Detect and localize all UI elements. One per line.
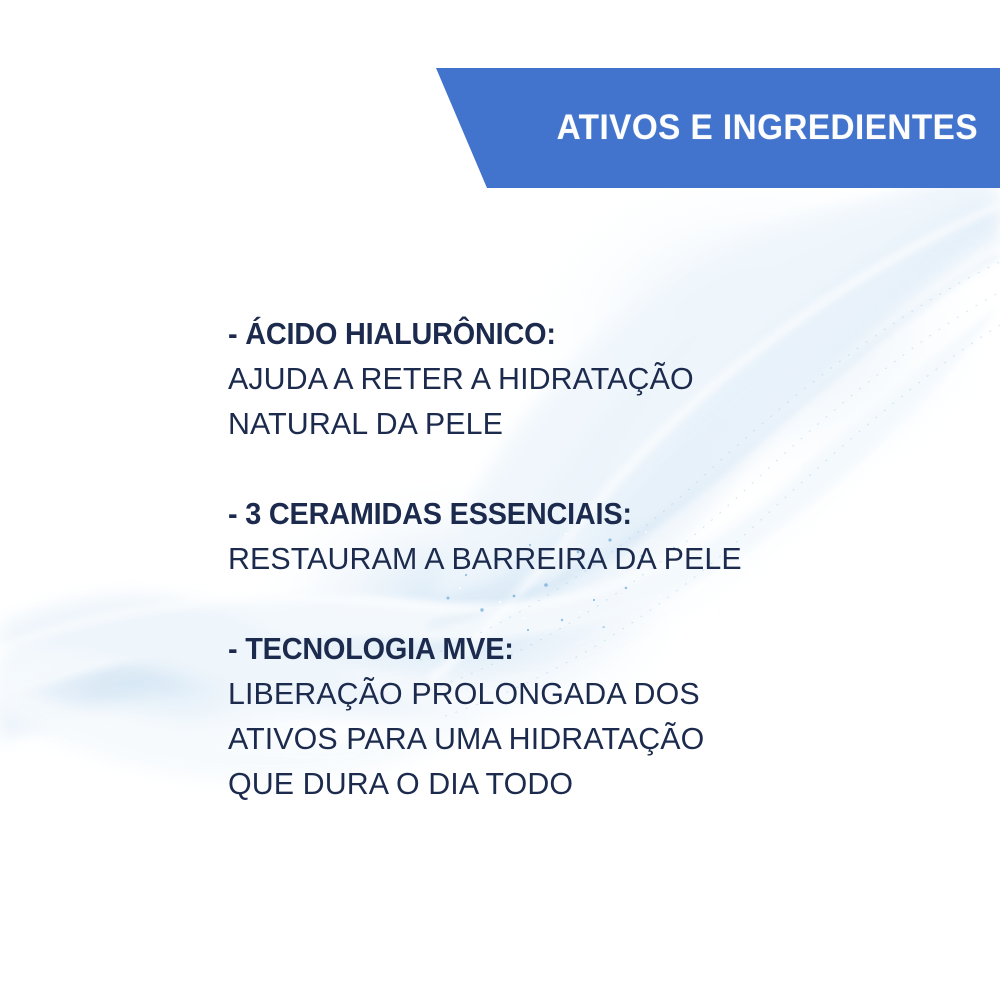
ingredient-heading: - TECNOLOGIA MVE: xyxy=(228,627,823,671)
ingredient-item-3-ceramidas-essenciais: - 3 CERAMIDAS ESSENCIAIS: RESTAURAM A BA… xyxy=(228,492,868,581)
ingredient-description-line: NATURAL DA PELE xyxy=(228,401,855,446)
ingredient-item-acido-hialuronico: - ÁCIDO HIALURÔNICO: AJUDA A RETER A HID… xyxy=(228,312,868,446)
ingredients-list: - ÁCIDO HIALURÔNICO: AJUDA A RETER A HID… xyxy=(228,312,868,806)
ingredient-description-line: AJUDA A RETER A HIDRATAÇÃO xyxy=(228,356,855,401)
ingredient-heading: - ÁCIDO HIALURÔNICO: xyxy=(228,312,823,356)
ingredient-description: RESTAURAM A BARREIRA DA PELE xyxy=(228,536,855,581)
ingredient-description: LIBERAÇÃO PROLONGADA DOS ATIVOS PARA UMA… xyxy=(228,671,855,806)
ingredient-description-line: RESTAURAM A BARREIRA DA PELE xyxy=(228,536,855,581)
banner-title: ATIVOS E INGREDIENTES xyxy=(524,68,978,188)
ingredient-description: AJUDA A RETER A HIDRATAÇÃO NATURAL DA PE… xyxy=(228,356,855,446)
ingredient-item-tecnologia-mve: - TECNOLOGIA MVE: LIBERAÇÃO PROLONGADA D… xyxy=(228,627,868,806)
ingredient-description-line: ATIVOS PARA UMA HIDRATAÇÃO xyxy=(228,716,855,761)
ingredient-description-line: QUE DURA O DIA TODO xyxy=(228,761,855,806)
ingredient-heading: - 3 CERAMIDAS ESSENCIAIS: xyxy=(228,492,823,536)
ingredient-description-line: LIBERAÇÃO PROLONGADA DOS xyxy=(228,671,855,716)
promo-banner-page: ATIVOS E INGREDIENTES - ÁCIDO HIALURÔNIC… xyxy=(0,0,1000,1000)
section-banner: ATIVOS E INGREDIENTES xyxy=(0,68,1000,188)
